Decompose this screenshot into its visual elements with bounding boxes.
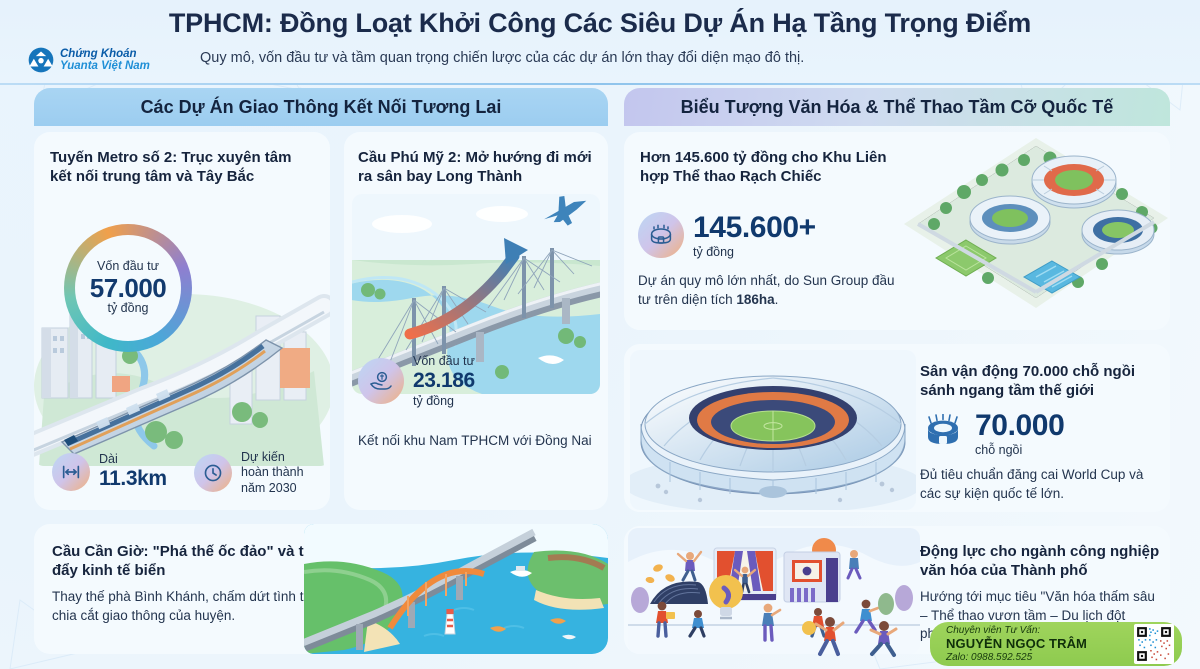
metro-completion-stat: Dự kiến hoàn thành năm 2030 [194,450,304,496]
rach-chiec-note-part2: . [775,292,779,307]
card-rach-chiec-complex[interactable]: Hơn 145.600 tỷ đồng cho Khu Liên hợp Thể… [624,132,1170,330]
infographic-page: TPHCM: Đồng Loạt Khởi Công Các Siêu Dự Á… [0,0,1200,669]
right-column-heading: Biểu Tượng Văn Hóa & Thể Thao Tầm Cỡ Quố… [624,88,1170,126]
stadium-illustration [630,350,916,510]
metro-length-label: Dài [99,452,167,467]
metro-completion-line1: Dự kiến [241,450,304,465]
stadium-seats-stat: 70.000 chỗ ngồi [920,408,1064,458]
advisor-zalo: Zalo: 0988.592.525 [946,652,1087,664]
ruler-arrow-icon [52,453,90,491]
phumy-card-title: Cầu Phú Mỹ 2: Mở hướng đi mới ra sân bay… [358,148,594,186]
donut-unit: tỷ đồng [107,302,148,316]
advisor-contact-badge[interactable]: Chuyên viên Tư Vấn: NGUYỄN NGỌC TRÂM Zal… [930,622,1182,666]
stadium-complex-icon [638,212,684,258]
logo-line-1: Chứng Khoán [60,48,150,60]
rach-chiec-title: Hơn 145.600 tỷ đồng cho Khu Liên hợp Thể… [640,148,890,186]
stadium-note: Đủ tiêu chuẩn đăng cai World Cup và các … [920,466,1158,503]
hand-coin-icon [358,358,404,404]
header-divider [0,83,1200,85]
metro-length-value: 11.3km [99,467,167,492]
footer-runners-illustration [806,612,926,668]
metro-length-stat: Dài 11.3km [52,452,167,492]
qr-code-icon[interactable] [1134,624,1174,664]
donut-value: 57.000 [90,274,167,302]
stadium-card-title: Sân vận động 70.000 chỗ ngồi sánh ngang … [920,362,1160,400]
can-gio-bridge-illustration [304,524,608,654]
phumy-investment-value: 23.186 [413,369,475,394]
left-column: Các Dự Án Giao Thông Kết Nối Tương Lai T… [34,88,608,654]
phumy-investment-label: Vốn đầu tư [413,354,475,369]
right-column: Biểu Tượng Văn Hóa & Thể Thao Tầm Cỡ Quố… [624,88,1170,654]
card-can-gio-bridge[interactable]: Cầu Cần Giờ: "Phá thế ốc đảo" và thúc đẩ… [34,524,608,654]
left-column-body: Tuyến Metro số 2: Trục xuyên tâm kết nối… [34,126,608,654]
right-column-body: Hơn 145.600 tỷ đồng cho Khu Liên hợp Thể… [624,126,1170,654]
culture-card-title: Động lực cho ngành công nghiệp văn hóa c… [920,542,1160,580]
stadium-seats-value: 70.000 [975,408,1064,443]
clock-icon [194,454,232,492]
phumy-investment-unit: tỷ đồng [413,394,475,409]
phumy-investment-stat: Vốn đầu tư 23.186 tỷ đồng [358,354,475,408]
rach-chiec-note-area: 186ha [736,292,774,307]
rach-chiec-investment-stat: 145.600+ tỷ đồng [638,210,816,260]
stadium-icon [920,410,966,456]
rach-chiec-value: 145.600+ [693,210,816,245]
sports-complex-illustration [902,132,1170,330]
donut-label: Vốn đầu tư [97,260,159,274]
advisor-name: NGUYỄN NGỌC TRÂM [946,636,1087,651]
phumy-note: Kết nối khu Nam TPHCM với Đồng Nai [358,432,596,451]
metro-card-title: Tuyến Metro số 2: Trục xuyên tâm kết nối… [50,148,314,186]
page-subtitle: Quy mô, vốn đầu tư và tầm quan trọng chi… [200,50,1100,66]
page-header: TPHCM: Đồng Loạt Khởi Công Các Siêu Dự Á… [0,0,1200,84]
brand-logo: Chứng Khoán Yuanta Việt Nam [28,47,150,73]
stadium-seats-unit: chỗ ngồi [975,443,1064,458]
cangio-text: Thay thế phà Bình Khánh, chấm dứt tình t… [52,588,332,625]
cangio-card-title: Cầu Cần Giờ: "Phá thế ốc đảo" và thúc đẩ… [52,542,342,580]
card-metro-line-2[interactable]: Tuyến Metro số 2: Trục xuyên tâm kết nối… [34,132,330,510]
yuanta-logo-icon [28,47,54,73]
rach-chiec-note: Dự án quy mô lớn nhất, do Sun Group đầu … [638,272,908,309]
metro-completion-line2: hoàn thành [241,465,304,480]
card-phu-my-2-bridge[interactable]: Cầu Phú Mỹ 2: Mở hướng đi mới ra sân bay… [344,132,608,510]
logo-line-2: Yuanta Việt Nam [60,60,150,72]
card-stadium-70000[interactable]: Sân vận động 70.000 chỗ ngồi sánh ngang … [624,344,1170,512]
page-title: TPHCM: Đồng Loạt Khởi Công Các Siêu Dự Á… [0,8,1200,39]
metro-completion-line3: năm 2030 [241,481,304,496]
left-column-heading: Các Dự Án Giao Thông Kết Nối Tương Lai [34,88,608,126]
metro-investment-donut: Vốn đầu tư 57.000 tỷ đồng [64,224,192,352]
advisor-label: Chuyên viên Tư Vấn: [946,625,1087,637]
rach-chiec-unit: tỷ đồng [693,245,816,260]
